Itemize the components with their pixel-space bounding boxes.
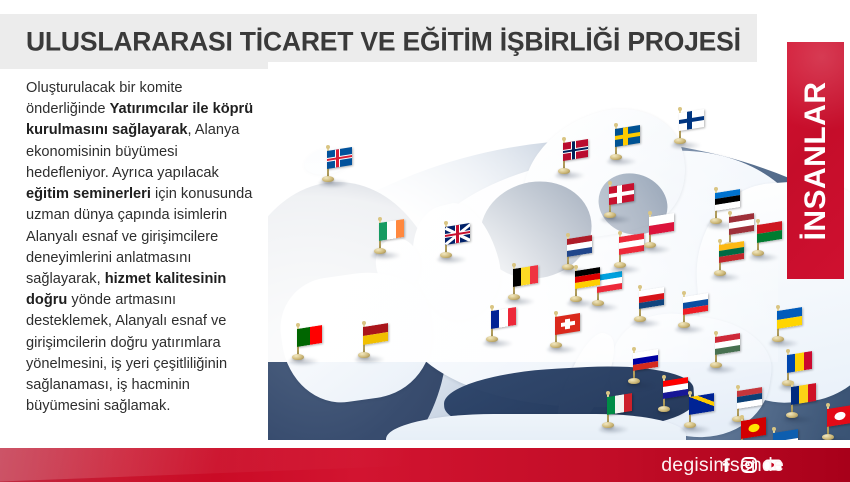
pin-head <box>562 137 566 141</box>
pin-head <box>790 381 794 385</box>
pin-head <box>296 323 300 327</box>
pin-head <box>614 123 618 127</box>
pin-head <box>728 211 732 215</box>
globe-illustration <box>268 62 850 440</box>
pin-head <box>574 265 578 269</box>
pin-head <box>608 181 612 185</box>
pin-base <box>786 412 798 418</box>
pin-base <box>610 154 622 160</box>
pin-head <box>678 107 682 111</box>
body-emphasis: eğitim seminerleri <box>26 186 151 202</box>
pin-head <box>826 403 830 407</box>
pin-base <box>374 248 386 254</box>
pin-head <box>718 239 722 243</box>
page-title: ULUSLARARASI TİCARET VE EĞİTİM İŞBİRLİĞİ… <box>26 26 741 57</box>
pin-base <box>752 250 764 256</box>
pin-base <box>614 262 626 268</box>
pin-base <box>644 242 656 248</box>
pin-base <box>822 434 834 440</box>
pin-base <box>710 362 722 368</box>
pin-head <box>776 305 780 309</box>
landmass-north-africa <box>386 414 686 440</box>
pin-head <box>362 321 366 325</box>
pin-head <box>772 427 776 431</box>
pin-head <box>662 375 666 379</box>
title-band: ULUSLARARASI TİCARET VE EĞİTİM İŞBİRLİĞİ… <box>0 14 757 69</box>
flag-turkey <box>827 405 850 427</box>
pin-head <box>512 263 516 267</box>
pin-head <box>618 231 622 235</box>
pin-base <box>714 270 726 276</box>
pin-base <box>604 212 616 218</box>
pin-head <box>756 219 760 223</box>
pin-base <box>440 252 452 258</box>
footer-bar: degisimsende <box>0 448 850 482</box>
pin-base <box>562 264 574 270</box>
pin-base <box>678 322 690 328</box>
pin-base <box>602 422 614 428</box>
pin-base <box>634 316 646 322</box>
body-paragraph: Oluşturulacak bir komite önderliğinde Ya… <box>26 78 258 418</box>
pin-head <box>736 385 740 389</box>
pin-base <box>570 296 582 302</box>
side-banner-label: İNSANLAR <box>799 81 833 240</box>
pin-base <box>550 342 562 348</box>
pin-base <box>292 354 304 360</box>
pin-head <box>714 187 718 191</box>
pin-base <box>558 168 570 174</box>
pin-base <box>486 336 498 342</box>
pin-head <box>444 221 448 225</box>
pin-head <box>740 415 744 419</box>
pin-head <box>554 311 558 315</box>
body-text-run: yönde artmasını desteklemek, Alanyalı es… <box>26 292 227 414</box>
pin-head <box>606 391 610 395</box>
pin-base <box>658 406 670 412</box>
pin-base <box>674 138 686 144</box>
pin-head <box>490 305 494 309</box>
footer-sheen <box>0 448 411 482</box>
pin-base <box>508 294 520 300</box>
pin-head <box>714 331 718 335</box>
pin-base <box>710 218 722 224</box>
pin-base <box>628 378 640 384</box>
pin-base <box>684 422 696 428</box>
footer-handle: degisimsende <box>661 448 850 482</box>
pin-head <box>688 391 692 395</box>
pin-base <box>772 336 784 342</box>
pin-head <box>638 285 642 289</box>
pin-base <box>322 176 334 182</box>
pin-head <box>632 347 636 351</box>
side-banner: İNSANLAR <box>787 42 844 279</box>
pin-head <box>326 145 330 149</box>
pin-base <box>358 352 370 358</box>
pin-head <box>648 211 652 215</box>
pin-head <box>378 217 382 221</box>
pin-head <box>566 233 570 237</box>
pin-head <box>682 291 686 295</box>
pin-head <box>786 349 790 353</box>
globe-highlight <box>268 62 778 362</box>
